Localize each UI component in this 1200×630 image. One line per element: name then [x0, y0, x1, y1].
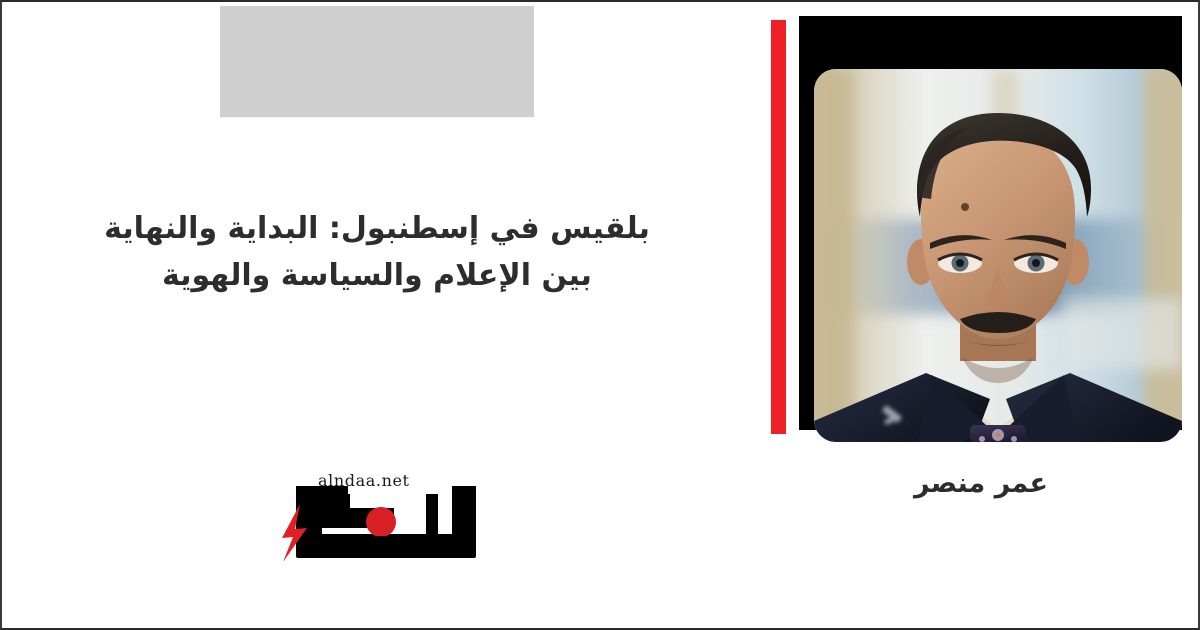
headline-line-2: بين الإعلام والسياسة والهوية	[62, 253, 692, 300]
page-title: بلقيس في إسطنبول: البداية والنهاية بين ا…	[62, 206, 692, 299]
headline-line-1: بلقيس في إسطنبول: البداية والنهاية	[62, 206, 692, 253]
logo-red-dot	[366, 507, 396, 537]
logo-domain-text: alndaa.net	[318, 471, 410, 490]
author-byline: عمر منصر	[802, 468, 1160, 499]
article-share-card: بلقيس في إسطنبول: البداية والنهاية بين ا…	[0, 0, 1200, 630]
site-logo[interactable]: alndaa.net	[274, 464, 486, 568]
author-photo	[814, 69, 1182, 442]
red-accent-bar	[771, 20, 786, 434]
broken-image-placeholder	[220, 6, 534, 117]
